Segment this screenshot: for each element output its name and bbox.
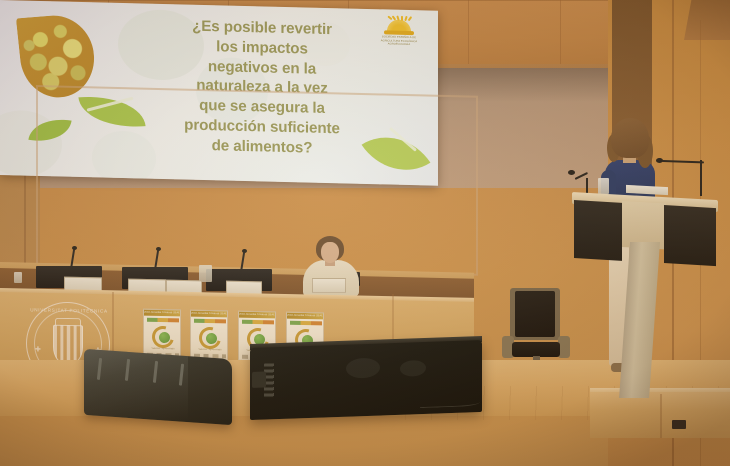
monitor-gloss [346, 358, 380, 379]
speaker-hair [611, 118, 649, 158]
riser-floor-box [672, 420, 686, 429]
water-glass [14, 272, 22, 283]
seal-text-top: UNIVERSITAT POLITÈCNICA [27, 307, 111, 313]
leaf-large-icon [78, 92, 145, 131]
poster-header-band: 2018 Jornadas Técnicas SEAE [144, 310, 180, 317]
slide-headline: ¿Es posible revertir los impactos negati… [148, 16, 376, 160]
chair-seat [512, 342, 560, 357]
microphone-head [156, 247, 161, 251]
poster-header-band: 2018 Jornadas Técnicas SEAE [191, 311, 227, 318]
microphone-head [72, 246, 77, 250]
ceiling-panel-line [468, 0, 469, 70]
poster-header-band: 2018 Jornadas Técnicas SEAE [287, 313, 323, 320]
stage-monitor-speaker [84, 349, 232, 425]
lectern-microphone-head-right [656, 158, 663, 163]
slide-headline-line-7: de alimentos? [148, 134, 376, 159]
poster-colour-bars [290, 321, 322, 326]
poster-colour-bars [242, 320, 274, 325]
slide-decor-blob [92, 130, 156, 185]
poster-globe-icon [206, 333, 217, 344]
monitor-gloss [400, 360, 426, 377]
ceiling-panel-line [560, 0, 561, 70]
panelist-name-card [312, 278, 346, 293]
seated-panelist [300, 236, 362, 294]
poster-header-text: 2018 Jornadas Técnicas SEAE [287, 313, 323, 320]
poster-footer-text: Valencia · Agroecología [147, 347, 179, 351]
teardrop-produce-graphic [16, 13, 98, 101]
poster-header-text: 2018 Jornadas Técnicas SEAE [144, 310, 180, 317]
display-monitor-rear [250, 340, 482, 420]
monitor-power-plug [252, 371, 266, 387]
chair-back-pad [515, 291, 555, 337]
microphone-head [242, 249, 247, 253]
lectern-side-panel-left [574, 200, 622, 261]
conference-hall-photo: ¿Es posible revertir los impactos negati… [0, 0, 730, 466]
event-poster: 2018 Jornadas Técnicas SEAE Valencia · A… [143, 309, 181, 360]
lectern-microphone-head-left [568, 170, 575, 175]
poster-header-band: 2018 Jornadas Técnicas SEAE [239, 312, 275, 319]
event-poster: 2018 Jornadas Técnicas SEAE Valencia · A… [190, 310, 228, 361]
seal-cross-icon: ✚ [35, 346, 41, 353]
lectern-water-glass [598, 178, 609, 194]
slide-organisation-logo: SOCIEDAD ESPAÑOLA DE AGRICULTURA ECOLÓGI… [378, 19, 420, 54]
poster-header-text: 2018 Jornadas Técnicas SEAE [239, 312, 275, 319]
wall-recess-top [684, 0, 730, 40]
lectern-side-panel-right [664, 205, 716, 266]
poster-colour-bars [147, 318, 179, 323]
poster-globe-icon [159, 332, 170, 343]
monitor-cable [420, 396, 480, 408]
poster-header-text: 2018 Jornadas Técnicas SEAE [191, 311, 227, 318]
panelist-face [321, 242, 339, 263]
logo-text-block: SOCIEDAD ESPAÑOLA DE AGRICULTURA ECOLÓGI… [378, 35, 420, 47]
poster-footer-text: Valencia · Agroecología [194, 348, 226, 352]
poster-colour-bars [194, 319, 226, 324]
projection-screen: ¿Es posible revertir los impactos negati… [0, 0, 438, 186]
logo-arc [384, 30, 414, 35]
lectern-microphone-stem-right [700, 160, 702, 196]
